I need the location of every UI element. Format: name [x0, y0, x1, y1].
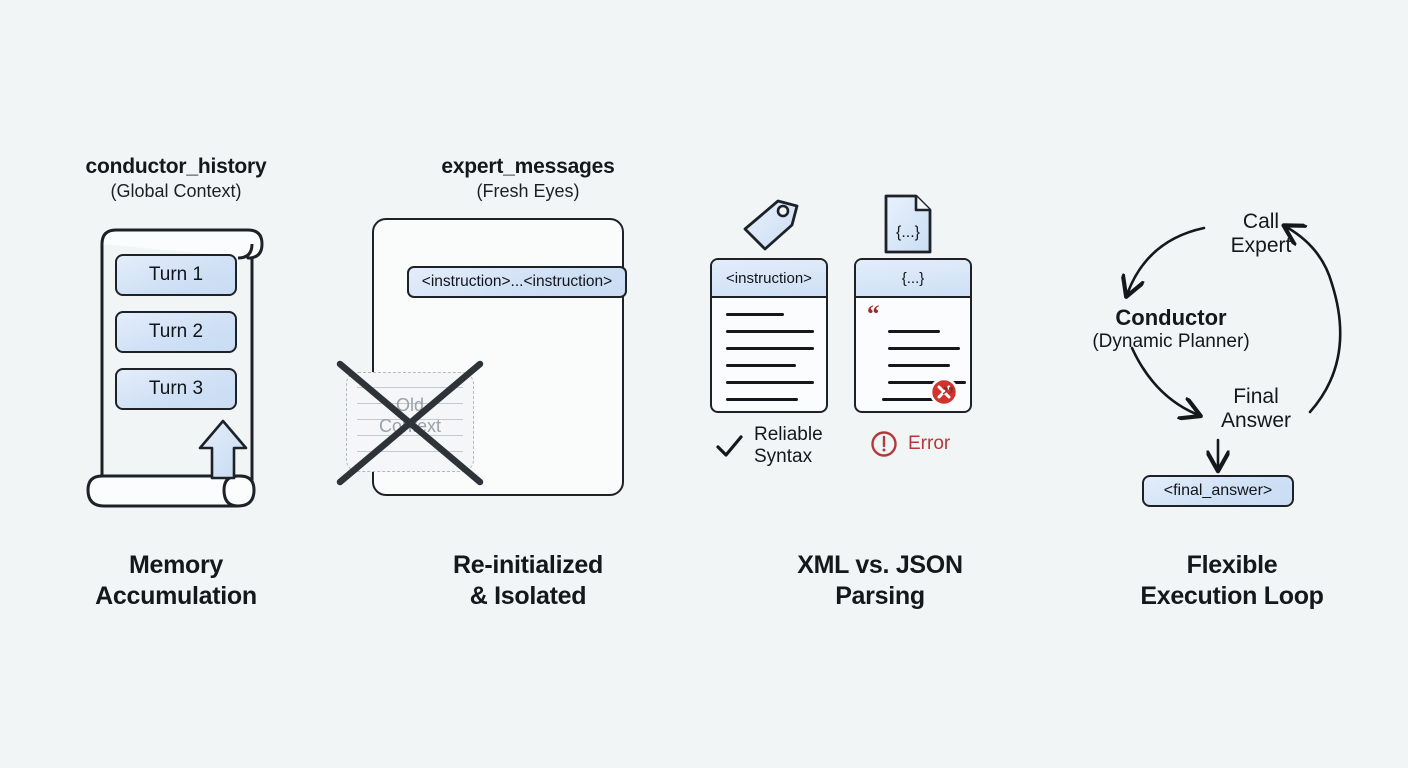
panel-3-caption-line1: XML vs. JSON	[704, 550, 1056, 581]
panel-2-title-main: expert_messages	[352, 155, 704, 179]
turn-chip-2-label: Turn 2	[149, 321, 203, 343]
xml-document-header-label: <instruction>	[726, 270, 812, 287]
panel-1-caption-line1: Memory	[0, 550, 352, 581]
json-document: {...} “ ”	[854, 258, 972, 413]
panel-4-caption-line1: Flexible	[1056, 550, 1408, 581]
scroll-illustration: Turn 1 Turn 2 Turn 3	[78, 218, 288, 518]
json-document-header: {...}	[856, 260, 970, 298]
panel-4-caption-line2: Execution Loop	[1056, 581, 1408, 612]
call-expert-line2: Expert	[1196, 234, 1326, 258]
json-file-icon: {...}	[880, 192, 936, 256]
panel-3-caption-line2: Parsing	[704, 581, 1056, 612]
tag-icon	[740, 196, 802, 254]
loop-label-call-expert: Call Expert	[1196, 210, 1326, 258]
check-icon	[714, 431, 744, 461]
json-verdict: Error	[870, 430, 950, 458]
panel-1-title-sub: (Global Context)	[0, 181, 352, 201]
turn-chip-1-label: Turn 1	[149, 264, 203, 286]
panel-4-caption: Flexible Execution Loop	[1056, 550, 1408, 611]
xml-document-header: <instruction>	[712, 260, 826, 298]
xml-verdict: Reliable Syntax	[714, 424, 823, 468]
json-verdict-text: Error	[908, 433, 950, 455]
turn-chip-1: Turn 1	[115, 254, 237, 296]
panel-1-title: conductor_history (Global Context)	[0, 155, 352, 201]
panel-2-title: expert_messages (Fresh Eyes)	[352, 155, 704, 201]
loop-label-final-answer: Final Answer	[1196, 385, 1316, 433]
panel-1-title-main: conductor_history	[0, 155, 352, 179]
final-answer-line2: Answer	[1196, 409, 1316, 433]
conductor-sub: (Dynamic Planner)	[1056, 331, 1286, 353]
panel-3-caption: XML vs. JSON Parsing	[704, 550, 1056, 611]
turn-chip-3: Turn 3	[115, 368, 237, 410]
final-answer-line1: Final	[1196, 385, 1316, 409]
panel-flexible-execution-loop: Call Expert Conductor (Dynamic Planner) …	[1056, 0, 1408, 768]
panel-2-caption: Re-initialized & Isolated	[352, 550, 704, 611]
loop-label-conductor: Conductor (Dynamic Planner)	[1056, 305, 1286, 353]
xml-document-body	[712, 298, 826, 413]
panel-1-caption: Memory Accumulation	[0, 550, 352, 611]
expert-messages-box: <instruction>...<instruction> Old Contex…	[372, 218, 624, 496]
quote-open-icon: “	[867, 302, 880, 327]
up-arrow-icon	[197, 418, 249, 482]
json-file-icon-label: {...}	[896, 224, 921, 241]
quote-close-icon: ”	[942, 383, 955, 408]
turn-chip-2: Turn 2	[115, 311, 237, 353]
panel-1-caption-line2: Accumulation	[0, 581, 352, 612]
json-document-body: “ ”	[856, 298, 970, 413]
execution-loop-illustration: Call Expert Conductor (Dynamic Planner) …	[1056, 200, 1408, 520]
xml-verdict-text: Reliable Syntax	[754, 424, 823, 468]
panel-2-title-sub: (Fresh Eyes)	[352, 181, 704, 201]
xml-document: <instruction>	[710, 258, 828, 413]
panel-memory-accumulation: conductor_history (Global Context) Turn …	[0, 0, 352, 768]
turn-chip-3-label: Turn 3	[149, 378, 203, 400]
panel-reinitialized-isolated: expert_messages (Fresh Eyes) <instructio…	[352, 0, 704, 768]
x-cross-icon	[328, 354, 492, 492]
json-document-header-label: {...}	[902, 270, 925, 287]
final-answer-chip: <final_answer>	[1142, 475, 1294, 507]
json-verdict-line1: Error	[908, 433, 950, 455]
panel-2-caption-line1: Re-initialized	[352, 550, 704, 581]
final-answer-chip-label: <final_answer>	[1164, 482, 1273, 500]
diagram-canvas: conductor_history (Global Context) Turn …	[0, 0, 1408, 768]
instruction-chip: <instruction>...<instruction>	[407, 266, 627, 298]
panel-xml-vs-json-parsing: {...} <instruction> {...} “	[704, 0, 1056, 768]
xml-verdict-line2: Syntax	[754, 446, 823, 468]
conductor-main: Conductor	[1056, 305, 1286, 330]
xml-verdict-line1: Reliable	[754, 424, 823, 446]
panel-2-caption-line2: & Isolated	[352, 581, 704, 612]
call-expert-line1: Call	[1196, 210, 1326, 234]
instruction-chip-label: <instruction>...<instruction>	[422, 273, 612, 291]
exclamation-circle-icon	[870, 430, 898, 458]
